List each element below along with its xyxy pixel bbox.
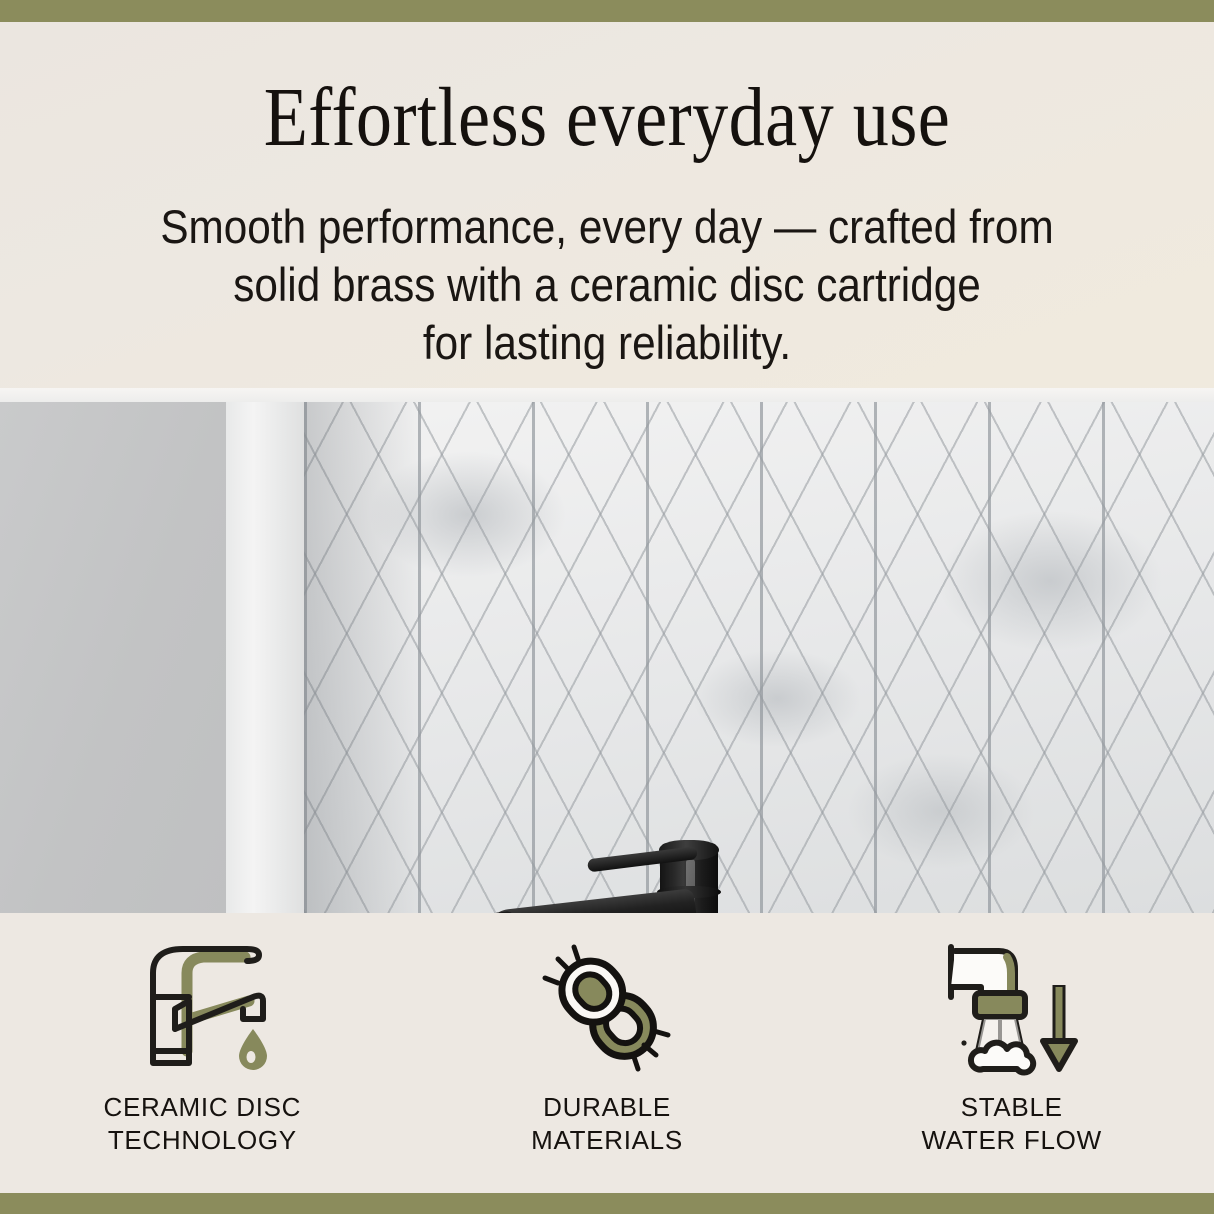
product-photo <box>0 388 1214 913</box>
feature-label-durable-materials: DURABLE MATERIALS <box>531 1091 683 1157</box>
subtitle-line-3: for lasting reliability. <box>103 314 1111 372</box>
bathroom-wall <box>0 402 232 913</box>
marble-chevron-backsplash <box>304 402 1214 913</box>
backsplash-shadow <box>304 402 424 913</box>
water-flow-arrow-icon <box>937 939 1087 1077</box>
photo-top-highlight <box>0 388 1214 402</box>
feature-1-line-1: CERAMIC DISC <box>104 1091 302 1124</box>
feature-durable-materials: DURABLE MATERIALS <box>405 913 810 1193</box>
product-feature-banner: Effortless everyday use Smooth performan… <box>0 0 1214 1214</box>
bottom-accent-bar <box>0 1193 1214 1214</box>
water-drop-shape <box>239 1029 267 1070</box>
feature-2-line-1: DURABLE <box>531 1091 683 1124</box>
feature-3-line-2: WATER FLOW <box>922 1124 1102 1157</box>
faucet-drip-icon <box>127 939 277 1077</box>
top-accent-bar <box>0 0 1214 22</box>
header-section: Effortless everyday use Smooth performan… <box>0 22 1214 388</box>
feature-highlights: CERAMIC DISC TECHNOLOGY <box>0 913 1214 1193</box>
feature-label-ceramic-disc: CERAMIC DISC TECHNOLOGY <box>104 1091 302 1157</box>
feature-label-stable-water-flow: STABLE WATER FLOW <box>922 1091 1102 1157</box>
feature-stable-water-flow: STABLE WATER FLOW <box>809 913 1214 1193</box>
page-subtitle: Smooth performance, every day — crafted … <box>103 198 1111 372</box>
subtitle-line-1: Smooth performance, every day — crafted … <box>103 198 1111 256</box>
chain-link-icon <box>532 939 682 1077</box>
wall-column <box>226 402 304 913</box>
subtitle-line-2: solid brass with a ceramic disc cartridg… <box>103 256 1111 314</box>
page-title: Effortless everyday use <box>85 70 1129 166</box>
feature-ceramic-disc-technology: CERAMIC DISC TECHNOLOGY <box>0 913 405 1193</box>
feature-3-line-1: STABLE <box>922 1091 1102 1124</box>
feature-1-line-2: TECHNOLOGY <box>104 1124 302 1157</box>
feature-2-line-2: MATERIALS <box>531 1124 683 1157</box>
